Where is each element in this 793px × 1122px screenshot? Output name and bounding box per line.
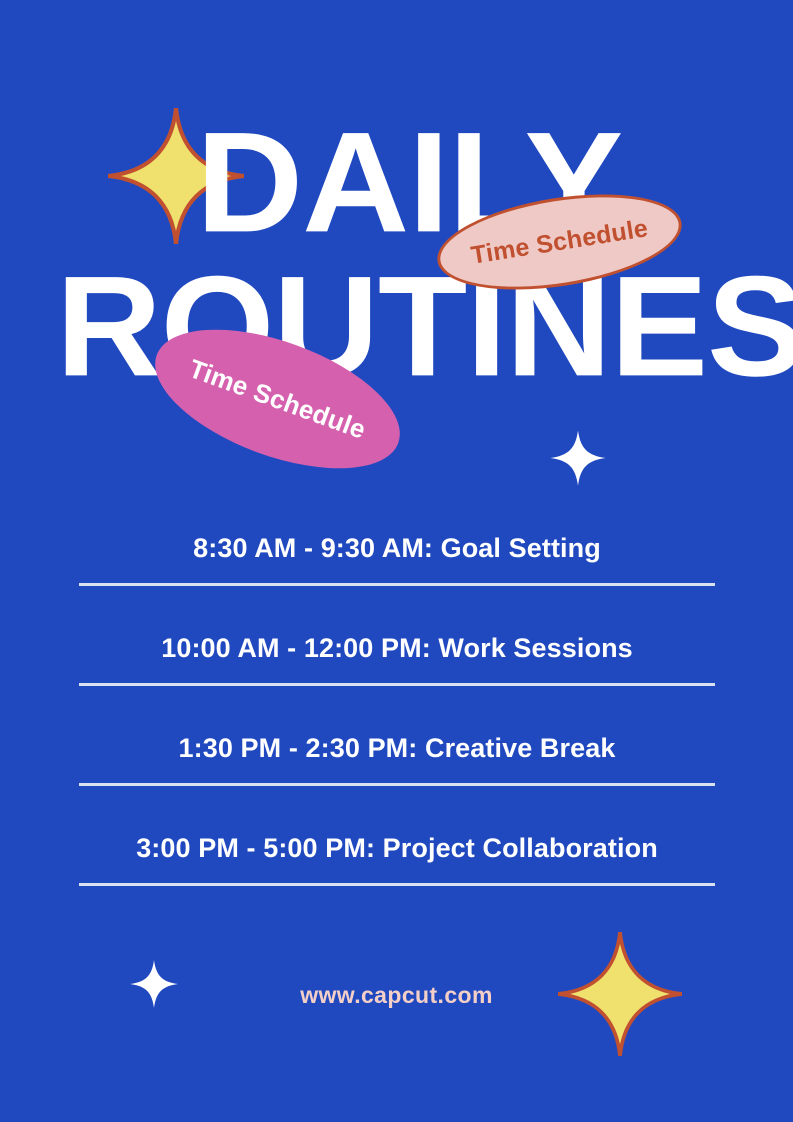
divider <box>79 683 715 686</box>
badge-label: Time Schedule <box>469 214 650 271</box>
list-item: 1:30 PM - 2:30 PM: Creative Break <box>79 725 715 825</box>
list-item: 10:00 AM - 12:00 PM: Work Sessions <box>79 625 715 725</box>
divider <box>79 583 715 586</box>
badge-label: Time Schedule <box>185 353 370 446</box>
schedule-item-text: 10:00 AM - 12:00 PM: Work Sessions <box>79 633 715 664</box>
schedule-item-text: 3:00 PM - 5:00 PM: Project Collaboration <box>79 833 715 864</box>
footer-website-url: www.capcut.com <box>0 982 793 1009</box>
poster-canvas: DAILY ROUTINES Time Schedule Time Schedu… <box>0 0 793 1122</box>
divider <box>79 783 715 786</box>
list-item: 3:00 PM - 5:00 PM: Project Collaboration <box>79 825 715 925</box>
schedule-list: 8:30 AM - 9:30 AM: Goal Setting 10:00 AM… <box>79 525 715 925</box>
schedule-item-text: 8:30 AM - 9:30 AM: Goal Setting <box>79 533 715 564</box>
list-item: 8:30 AM - 9:30 AM: Goal Setting <box>79 525 715 625</box>
divider <box>79 883 715 886</box>
schedule-item-text: 1:30 PM - 2:30 PM: Creative Break <box>79 733 715 764</box>
sparkle-icon <box>548 428 608 488</box>
